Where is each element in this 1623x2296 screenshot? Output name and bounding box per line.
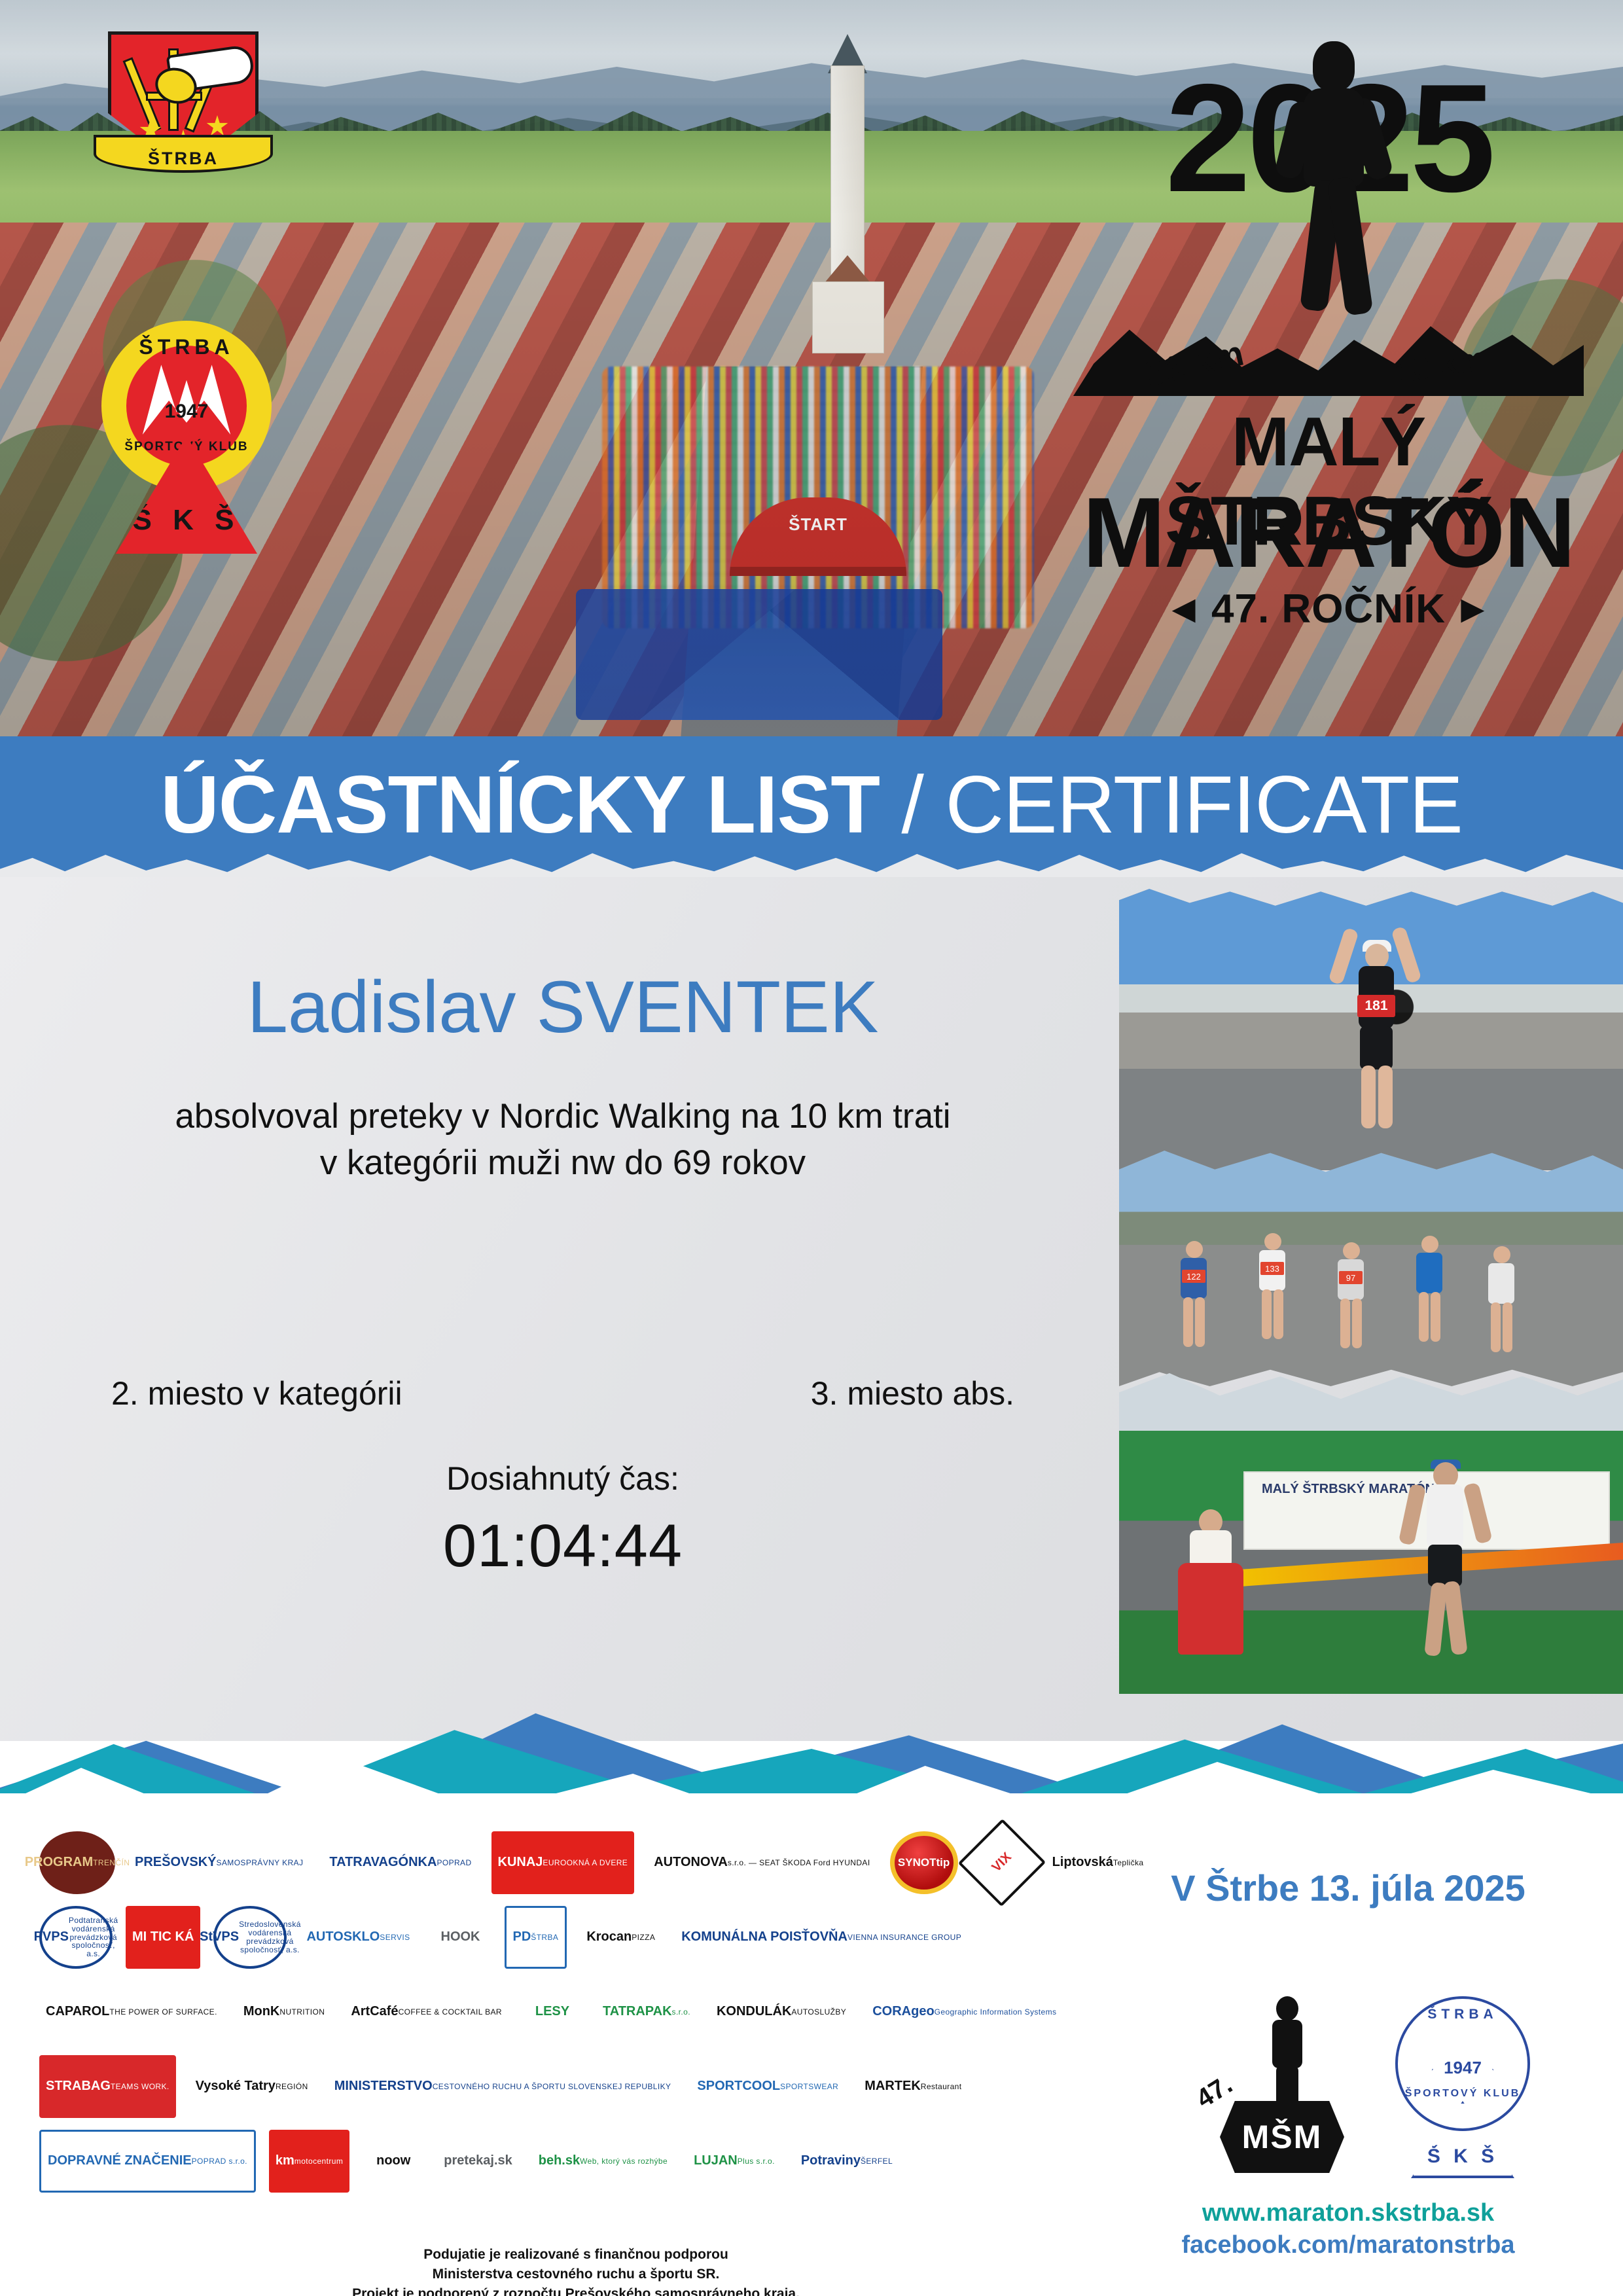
runner-top	[1416, 1253, 1442, 1293]
sponsor-name: KUNAJ	[498, 1856, 543, 1870]
sponsor-name: Liptovská	[1052, 1856, 1113, 1870]
sponsor-tagline: SERVIS	[380, 1933, 410, 1942]
finisher-head	[1365, 944, 1389, 969]
msm-stamp: 47. MŠM	[1191, 1996, 1361, 2173]
banner-title-en: / CERTIFICATE	[880, 760, 1463, 850]
event-edition: 47. ROČNÍK	[1060, 586, 1597, 632]
club-founding-year: 1947	[101, 401, 272, 423]
sponsor-tagline: EUROOKNÁ A DVERE	[543, 1859, 628, 1867]
stamp-arc-top: ŠTRBA	[1381, 2007, 1544, 2022]
finisher-arm-left	[1328, 927, 1359, 986]
sponsor-name: MI TIC KÁ	[132, 1930, 194, 1945]
sponsor-tagline: NUTRITION	[279, 2008, 325, 2017]
sponsor-name: PREŠOVSKÝ	[135, 1856, 216, 1870]
certificate-description: absolvoval preteky v Nordic Walking na 1…	[0, 1093, 1126, 1187]
official-stamps: 47. MŠM ŠTRBA 1947 ŠPORTOVÝ KLUB Š K Š	[1119, 1990, 1577, 2186]
msm-runner-legs	[1276, 2066, 1298, 2106]
runner-leg-left	[1340, 1299, 1350, 1348]
crest-ribbon-label: ŠTRBA	[148, 149, 219, 170]
sponsor-name: km	[276, 2154, 294, 2168]
sponsor-tagline: SAMOSPRÁVNY KRAJ	[216, 1859, 303, 1867]
sponsor-logo: DOPRAVNÉ ZNAČENIEPOPRAD s.r.o.	[39, 2130, 256, 2193]
sponsor-tagline: s.r.o.	[672, 2008, 690, 2017]
sponsor-name: VIX	[990, 1850, 1014, 1875]
time-value: 01:04:44	[0, 1512, 1126, 1581]
sponsor-tagline: Geographic Information Systems	[935, 2008, 1057, 2017]
sponsor-logo: ArtCaféCOFFEE & COCKTAIL BAR	[344, 1981, 508, 2043]
sponsor-logo: PDŠTRBA	[505, 1906, 567, 1969]
sponsor-logo: noow	[363, 2130, 424, 2193]
runner-leg-right	[1431, 1292, 1440, 1342]
runner-head	[1421, 1236, 1438, 1253]
runner-head	[1343, 1242, 1360, 1259]
sponsor-tagline: AUTOSLUŽBY	[791, 2008, 846, 2017]
runner-leg-right	[1274, 1289, 1283, 1339]
sponsor-tagline: Plus s.r.o.	[738, 2157, 775, 2166]
sponsor-tagline: ŠTRBA	[531, 1933, 558, 1942]
sponsor-logo: PROGRAMTRENČÍN	[39, 1831, 115, 1894]
sponsor-logo: PVPSPodtatranská vodárenská prevádzková …	[39, 1906, 113, 1969]
runner-torso	[1304, 88, 1364, 187]
sponsor-name: LUJAN	[694, 2154, 738, 2168]
footer: PROGRAMTRENČÍNPREŠOVSKÝSAMOSPRÁVNY KRAJT…	[0, 1793, 1623, 2296]
sponsor-name: StVPS	[200, 1930, 239, 1945]
group-runner-4	[1407, 1230, 1452, 1348]
sponsor-tagline: PIZZA	[632, 1933, 655, 1942]
group-runner-1: 122	[1171, 1236, 1216, 1354]
sponsor-logo: MINISTERSTVOCESTOVNÉHO RUCHU A ŠPORTU SL…	[328, 2055, 678, 2118]
photo-runner-group: 122 133 97	[1119, 1151, 1623, 1386]
sponsor-tagline: POPRAD s.r.o.	[192, 2157, 247, 2166]
male-winner-figure	[1400, 1445, 1486, 1661]
club-initials: Š K Š	[116, 504, 257, 537]
banner-title: ÚČASTNÍCKY LIST / CERTIFICATE	[160, 764, 1463, 846]
runner-head	[1313, 41, 1355, 91]
runner-head	[1493, 1246, 1510, 1263]
sponsor-logo: PREŠOVSKÝSAMOSPRÁVNY KRAJ	[128, 1831, 310, 1894]
crest-ribbon: ŠTRBA	[94, 135, 273, 173]
sponsor-logo: CAPAROLTHE POWER OF SURFACE.	[39, 1981, 224, 2043]
sponsor-name: pretekaj.sk	[444, 2154, 512, 2168]
strba-coat-of-arms: ŠTRBA	[108, 31, 259, 172]
certificate-banner: ÚČASTNÍCKY LIST / CERTIFICATE	[0, 736, 1623, 874]
photo-collage: 181 122 133	[1113, 889, 1623, 1700]
website-url[interactable]: www.maraton.skstrba.sk	[1119, 2199, 1577, 2227]
runner-group: 122 133 97	[1145, 1223, 1603, 1373]
place-in-category: 2. miesto v kategórii	[111, 1374, 402, 1412]
sponsor-tagline: TRENČÍN	[93, 1859, 130, 1867]
sponsor-name: KOMUNÁLNA POISŤOVŇA	[681, 1930, 847, 1945]
winner-shorts	[1428, 1545, 1462, 1587]
folk-costume-figure	[1171, 1504, 1250, 1661]
sponsor-logo: MonKNUTRITION	[237, 1981, 331, 2043]
sponsor-tagline: motocentrum	[294, 2157, 343, 2166]
winner-arm-left	[1399, 1484, 1427, 1546]
sponsor-logo: AUTOSKLOSERVIS	[300, 1906, 416, 1969]
sponsor-tagline: COFFEE & COCKTAIL BAR	[399, 2008, 502, 2017]
sponsor-logo: AUTONOVAs.r.o. — SEAT ŠKODA Ford HYUNDAI	[647, 1831, 876, 1894]
sks-club-logo: ŠTRBA 1947 ŠPORTOVÝ KLUB Š K Š	[101, 321, 272, 569]
runner-leg-right	[1352, 1299, 1362, 1348]
sponsor-logo: StVPSStredoslovenská vodárenská prevádzk…	[213, 1906, 287, 1969]
place-absolute: 3. miesto abs.	[811, 1374, 1014, 1412]
sponsor-logo: TATRAPAKs.r.o.	[596, 1981, 697, 2043]
stamp-initials: Š K Š	[1414, 2145, 1512, 2168]
sponsor-name: DOPRAVNÉ ZNAČENIE	[48, 2154, 192, 2168]
sponsor-tagline: Podtatranská vodárenská prevádzková spol…	[69, 1916, 118, 1959]
sponsor-tagline: Web, ktorý vás rozhýbe	[580, 2157, 668, 2166]
runner-head	[1186, 1241, 1203, 1258]
runner-top	[1488, 1263, 1514, 1304]
photo-female-finisher: 181	[1119, 889, 1623, 1170]
funding-note-line1: Podujatie je realizované s finančnou pod…	[39, 2245, 1113, 2265]
sponsor-name: HOOK	[441, 1930, 480, 1945]
folk-skirt	[1178, 1563, 1243, 1655]
sponsor-name: CAPAROL	[46, 2005, 109, 2019]
funding-note-line3: Projekt je podporený z rozpočtu Prešovsk…	[39, 2284, 1113, 2296]
finisher-bib-number: 181	[1357, 995, 1395, 1017]
sponsor-name: LESY	[535, 2005, 569, 2019]
sponsor-tagline: Teplička	[1113, 1859, 1144, 1867]
sponsor-name: Potraviny	[801, 2154, 861, 2168]
msm-runner-icon	[1262, 1996, 1311, 2105]
sponsor-logo: kmmotocentrum	[269, 2130, 349, 2193]
runner-leg-left	[1491, 1302, 1501, 1352]
certificate-text-block: Ladislav SVENTEK absolvoval preteky v No…	[0, 969, 1126, 1187]
runner-leg-left	[1183, 1297, 1193, 1347]
group-runner-3: 97	[1329, 1237, 1373, 1355]
photo-finish-line: MALÝ ŠTRBSKÝ MARATÓN	[1119, 1373, 1623, 1694]
msm-runner-torso	[1272, 2020, 1302, 2068]
sponsor-name: AUTONOVA	[654, 1856, 728, 1870]
contact-urls: www.maraton.skstrba.sk facebook.com/mara…	[1119, 2199, 1577, 2259]
sponsor-tagline: POPRAD	[437, 1859, 471, 1867]
runner-bib-number: 133	[1260, 1262, 1284, 1275]
finisher-leg-left	[1361, 1066, 1376, 1128]
sponsor-logo: KONDULÁKAUTOSLUŽBY	[710, 1981, 853, 2043]
winner-leg-right	[1443, 1581, 1467, 1655]
sponsor-name: TATRAPAK	[603, 2005, 672, 2019]
sponsor-logo: MARTEKRestaurant	[858, 2055, 968, 2118]
sponsor-name: KONDULÁK	[717, 2005, 791, 2019]
finisher-leg-right	[1378, 1066, 1393, 1128]
sponsor-tagline: ŠERFEL	[861, 2157, 893, 2166]
sponsor-tagline: Restaurant	[921, 2083, 962, 2091]
msm-runner-head	[1276, 1996, 1298, 2021]
runner-bib-number: 97	[1339, 1271, 1363, 1284]
sponsor-logo: VIX	[957, 1819, 1045, 1907]
sponsor-tagline: VIENNA INSURANCE GROUP	[847, 1933, 961, 1942]
sponsor-name: MonK	[243, 2005, 280, 2019]
msm-edition-number: 47.	[1191, 2070, 1238, 2115]
sponsor-logo: HOOK	[430, 1906, 491, 1969]
club-arc-top: ŠTRBA	[101, 321, 272, 406]
sponsor-logo: PotravinyŠERFEL	[794, 2130, 899, 2193]
sponsor-name: PD	[513, 1930, 531, 1945]
sponsor-logo: MI TIC KÁ	[126, 1906, 200, 1969]
sponsor-name: AUTOSKLO	[306, 1930, 380, 1945]
sponsor-tagline: SPORTSWEAR	[780, 2083, 838, 2091]
finisher-arm-right	[1391, 926, 1421, 984]
sponsor-name: TATRAVAGÓNKA	[329, 1856, 437, 1870]
sponsor-logo: LESY	[522, 1981, 583, 2043]
sponsor-name: ArtCafé	[351, 2005, 398, 2019]
sponsor-name: STRABAG	[46, 2079, 111, 2094]
sponsor-name: SYNOTtip	[898, 1857, 950, 1869]
runner-silhouette-icon	[1281, 41, 1386, 316]
sponsor-tagline: s.r.o. — SEAT ŠKODA Ford HYUNDAI	[728, 1859, 870, 1867]
msm-abbreviation: MŠM	[1220, 2101, 1344, 2173]
funding-note-line2: Ministerstva cestovného ruchu a športu S…	[39, 2265, 1113, 2284]
sponsor-name: SPORTCOOL	[697, 2079, 780, 2094]
sponsor-logo: KOMUNÁLNA POISŤOVŇAVIENNA INSURANCE GROU…	[675, 1906, 968, 1969]
sponsor-name: noow	[376, 2154, 410, 2168]
participant-name: Ladislav SVENTEK	[0, 969, 1126, 1046]
event-logo: 2025 31 km 10 km MALÝ ŠTRBSKÝ MARATÓN 47…	[1060, 36, 1597, 691]
sponsor-name: MINISTERSTVO	[334, 2079, 433, 2094]
description-line-1: absolvoval preteky v Nordic Walking na 1…	[0, 1093, 1126, 1140]
runner-leg-left	[1262, 1289, 1272, 1339]
sponsor-name: beh.sk	[539, 2154, 580, 2168]
sponsor-logo: CORAgeoGeographic Information Systems	[866, 1981, 1063, 2043]
runner-leg-right	[1195, 1297, 1205, 1347]
group-runner-2: 133	[1250, 1228, 1294, 1346]
sponsor-tagline: CESTOVNÉHO RUCHU A ŠPORTU SLOVENSKEJ REP…	[433, 2083, 671, 2091]
sponsor-logo: beh.skWeb, ktorý vás rozhýbe	[532, 2130, 674, 2193]
stamp-year: 1947	[1381, 2058, 1544, 2078]
sponsor-logo: Vysoké TatryREGIÓN	[189, 2055, 315, 2118]
certificate-page: ŠTART ŠTRBA ŠTRBA 1947 ŠPORTOVÝ KLUB Š K…	[0, 0, 1623, 2296]
group-runner-5	[1479, 1241, 1524, 1359]
sks-official-stamp: ŠTRBA 1947 ŠPORTOVÝ KLUB Š K Š	[1381, 1990, 1544, 2179]
stamp-arc-bottom: ŠPORTOVÝ KLUB	[1381, 2088, 1544, 2100]
runner-head	[1264, 1233, 1281, 1250]
sponsor-logo: KrocanPIZZA	[580, 1906, 662, 1969]
time-label: Dosiahnutý čas:	[0, 1460, 1126, 1498]
sponsor-logo: TATRAVAGÓNKAPOPRAD	[323, 1831, 478, 1894]
description-line-2: v kategórii muži nw do 69 rokov	[0, 1139, 1126, 1187]
sponsor-tagline: Stredoslovenská vodárenská prevádzková s…	[239, 1920, 301, 1954]
sponsor-name: MARTEK	[865, 2079, 921, 2094]
sponsor-tagline: TEAMS WORK.	[111, 2083, 169, 2091]
sponsor-logo: LUJANPlus s.r.o.	[687, 2130, 781, 2193]
sponsor-name: PVPS	[34, 1930, 69, 1945]
funding-note: Podujatie je realizované s finančnou pod…	[39, 2245, 1113, 2296]
sponsor-name: PROGRAM	[25, 1856, 93, 1870]
event-title-line2: MARATÓN	[1060, 476, 1597, 590]
sponsor-tagline: THE POWER OF SURFACE.	[109, 2008, 217, 2017]
banner-title-sk: ÚČASTNÍCKY LIST	[160, 760, 880, 850]
sponsor-logo: pretekaj.sk	[437, 2130, 519, 2193]
sponsor-logo: STRABAGTEAMS WORK.	[39, 2055, 176, 2118]
sponsor-name: CORAgeo	[872, 2005, 934, 2019]
winner-top	[1427, 1484, 1463, 1549]
runner-bib-number: 122	[1182, 1270, 1205, 1283]
sponsor-logo: SPORTCOOLSPORTSWEAR	[690, 2055, 845, 2118]
place-and-date: V Štrbe 13. júla 2025	[1119, 1867, 1577, 1909]
runner-leg-left	[1419, 1292, 1429, 1342]
placement-row: 2. miesto v kategórii 3. miesto abs.	[0, 1374, 1126, 1412]
facebook-url[interactable]: facebook.com/maratonstrba	[1119, 2231, 1577, 2259]
sponsor-name: Krocan	[586, 1930, 632, 1945]
sponsor-logo-grid: PROGRAMTRENČÍNPREŠOVSKÝSAMOSPRÁVNY KRAJT…	[39, 1831, 1152, 2193]
finisher-figure: 181	[1335, 935, 1414, 1131]
sponsor-tagline: REGIÓN	[276, 2083, 308, 2091]
finisher-shorts	[1360, 1026, 1393, 1069]
sponsor-logo: SYNOTtip	[890, 1831, 958, 1894]
sponsor-name: Vysoké Tatry	[196, 2079, 276, 2094]
runner-leg-right	[1503, 1302, 1512, 1352]
sponsor-logo: KUNAJEUROOKNÁ A DVERE	[491, 1831, 635, 1894]
